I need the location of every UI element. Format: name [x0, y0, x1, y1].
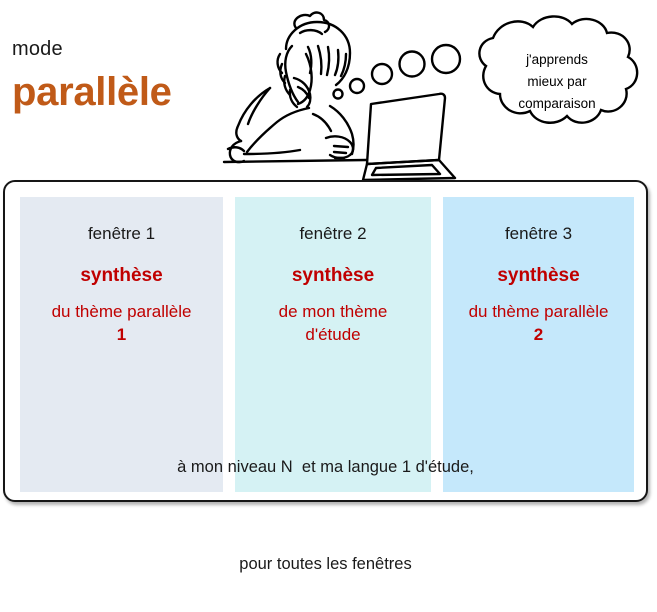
column-description-text-1: du thème parallèle: [52, 302, 192, 321]
window-label-1: fenêtre 1: [20, 224, 223, 244]
synthesis-heading-2: synthèse: [235, 265, 431, 287]
thought-dot-3: [372, 64, 392, 84]
column-description-3: du thème parallèle 2: [443, 301, 634, 347]
thought-bubble-line-3: comparaison: [518, 96, 595, 111]
parallel-mode-panel: fenêtre 1 synthèse du thème parallèle 1 …: [3, 180, 648, 502]
thought-dot-1: [334, 90, 343, 99]
header: mode parallèle: [0, 0, 657, 180]
synthesis-heading-3: synthèse: [443, 265, 634, 287]
column-description-1: du thème parallèle 1: [20, 301, 223, 347]
window-label-3: fenêtre 3: [443, 224, 634, 244]
column-description-text-2: de mon thème: [279, 302, 388, 321]
column-description-number-3: 2: [534, 325, 543, 344]
column-description-number-1: 1: [117, 325, 126, 344]
thought-dot-5: [432, 45, 460, 73]
column-description-2: de mon thème d'étude: [235, 301, 431, 347]
footer-line-2: pour toutes les fenêtres: [3, 548, 648, 580]
column-description-number-2: d'étude: [305, 325, 360, 344]
thought-dot-4: [400, 52, 425, 77]
mode-label: mode: [12, 38, 63, 61]
window-label-2: fenêtre 2: [235, 224, 431, 244]
page-title: parallèle: [12, 70, 172, 115]
column-description-text-3: du thème parallèle: [469, 302, 609, 321]
thought-bubble-line-1: j'apprends: [525, 52, 588, 67]
window-column-2[interactable]: fenêtre 2 synthèse de mon thème d'étude: [235, 197, 431, 492]
thought-bubble: j'apprends mieux par comparaison: [330, 2, 655, 162]
synthesis-heading-1: synthèse: [20, 265, 223, 287]
thought-dot-2: [350, 79, 364, 93]
window-column-1[interactable]: fenêtre 1 synthèse du thème parallèle 1: [20, 197, 223, 492]
thought-bubble-line-2: mieux par: [527, 74, 587, 89]
window-column-3[interactable]: fenêtre 3 synthèse du thème parallèle 2: [443, 197, 634, 492]
